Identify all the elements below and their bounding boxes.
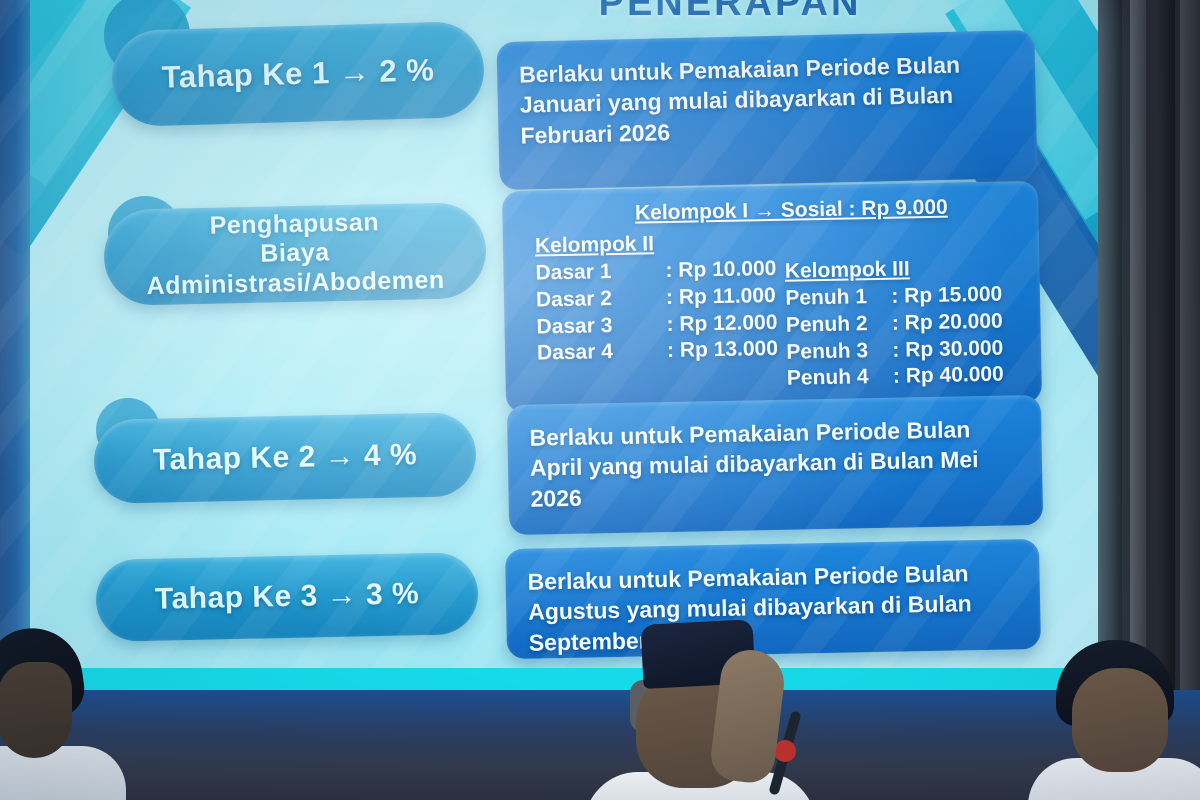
tariff-table: Kelompok I → Sosial : Rp 9.000 Kelompok … <box>502 181 1042 408</box>
tariff-row-label: Penuh 3 <box>786 337 892 366</box>
tariff-row-value: : Rp 20.000 <box>892 308 1021 337</box>
tariff-row-label: Dasar 4 <box>537 338 667 367</box>
tariff-row-label: Penuh 1 <box>785 283 891 312</box>
tariff-row-value: : Rp 15.000 <box>891 281 1020 310</box>
tariff-row-value: : Rp 40.000 <box>893 362 1022 391</box>
tariff-row-label: Dasar 1 <box>535 258 665 287</box>
stage-front-panel <box>0 690 1200 800</box>
stage-2-pill-label: Tahap Ke 2 → 4 % <box>135 437 436 479</box>
tariff-row-label: Penuh 2 <box>786 310 892 339</box>
stage-1-pill-label: Tahap Ke 1 → 2 % <box>143 51 453 96</box>
stage-1-description-box: Berlaku untuk Pemakaian Periode Bulan Ja… <box>496 30 1037 190</box>
tariff-row-value: : Rp 10.000 <box>665 256 785 285</box>
stage-2-description-box: Berlaku untuk Pemakaian Periode Bulan Ap… <box>507 395 1043 535</box>
tariff-group3-column: Kelompok III Penuh 1 : Rp 15.000 Penuh 2… <box>784 224 1022 393</box>
person-right-face <box>1072 668 1168 772</box>
tariff-row-label: Dasar 3 <box>536 312 666 341</box>
abolition-pill-label: Penghapusan Biaya Administrasi/Abodemen <box>103 206 487 302</box>
stage-2-pill: Tahap Ke 2 → 4 % <box>93 412 477 504</box>
tariff-row-value: : Rp 30.000 <box>892 335 1021 364</box>
tariff-group1-line: Kelompok I → Sosial : Rp 9.000 <box>564 193 1018 229</box>
stage-3-pill: Tahap Ke 3 → 3 % <box>95 552 479 642</box>
abolition-pill-label-line2: Biaya Administrasi/Abodemen <box>146 239 445 300</box>
tariff-row-label: Dasar 2 <box>536 285 666 314</box>
abolition-pill: Penghapusan Biaya Administrasi/Abodemen <box>103 202 487 306</box>
tariff-row: Penuh 4 : Rp 40.000 <box>787 362 1022 393</box>
person-left-face <box>0 662 72 758</box>
tariff-row: Dasar 4 : Rp 13.000 <box>537 336 787 368</box>
wall-pillar-4 <box>1180 0 1200 800</box>
abolition-pill-label-line1: Penghapusan <box>209 208 379 240</box>
screen-bottom-cyan-rail <box>0 668 1098 690</box>
tariff-row-value: : Rp 13.000 <box>667 336 787 365</box>
tariff-group1-text: Kelompok I → Sosial : Rp 9.000 <box>635 196 948 225</box>
slide-title: PENERAPAN <box>520 0 940 25</box>
screenshot-frame: PENERAPAN Tahap Ke 1 → 2 % Berlaku untuk… <box>0 0 1200 800</box>
projection-screen: PENERAPAN Tahap Ke 1 → 2 % Berlaku untuk… <box>0 0 1098 690</box>
stage-3-pill-label: Tahap Ke 3 → 3 % <box>137 576 438 618</box>
tariff-columns: Kelompok II Dasar 1 : Rp 10.000 Dasar 2 … <box>535 224 1022 398</box>
tariff-row-value: : Rp 12.000 <box>666 309 786 338</box>
microphone-head <box>774 740 796 762</box>
tariff-table-box: Kelompok I → Sosial : Rp 9.000 Kelompok … <box>502 181 1042 413</box>
screen-left-frame <box>0 0 30 690</box>
stage-1-pill: Tahap Ke 1 → 2 % <box>111 21 486 127</box>
stage-3-description-text: Berlaku untuk Pemakaian Periode Bulan Ag… <box>505 539 1041 676</box>
stage-2-description-text: Berlaku untuk Pemakaian Periode Bulan Ap… <box>507 395 1043 532</box>
tariff-row-label: Penuh 4 <box>787 364 893 393</box>
tariff-group2-column: Kelompok II Dasar 1 : Rp 10.000 Dasar 2 … <box>535 229 787 398</box>
stage-1-description-text: Berlaku untuk Pemakaian Periode Bulan Ja… <box>496 30 1037 169</box>
stage-3-description-box: Berlaku untuk Pemakaian Periode Bulan Ag… <box>505 539 1041 659</box>
tariff-row-value: : Rp 11.000 <box>666 282 786 311</box>
